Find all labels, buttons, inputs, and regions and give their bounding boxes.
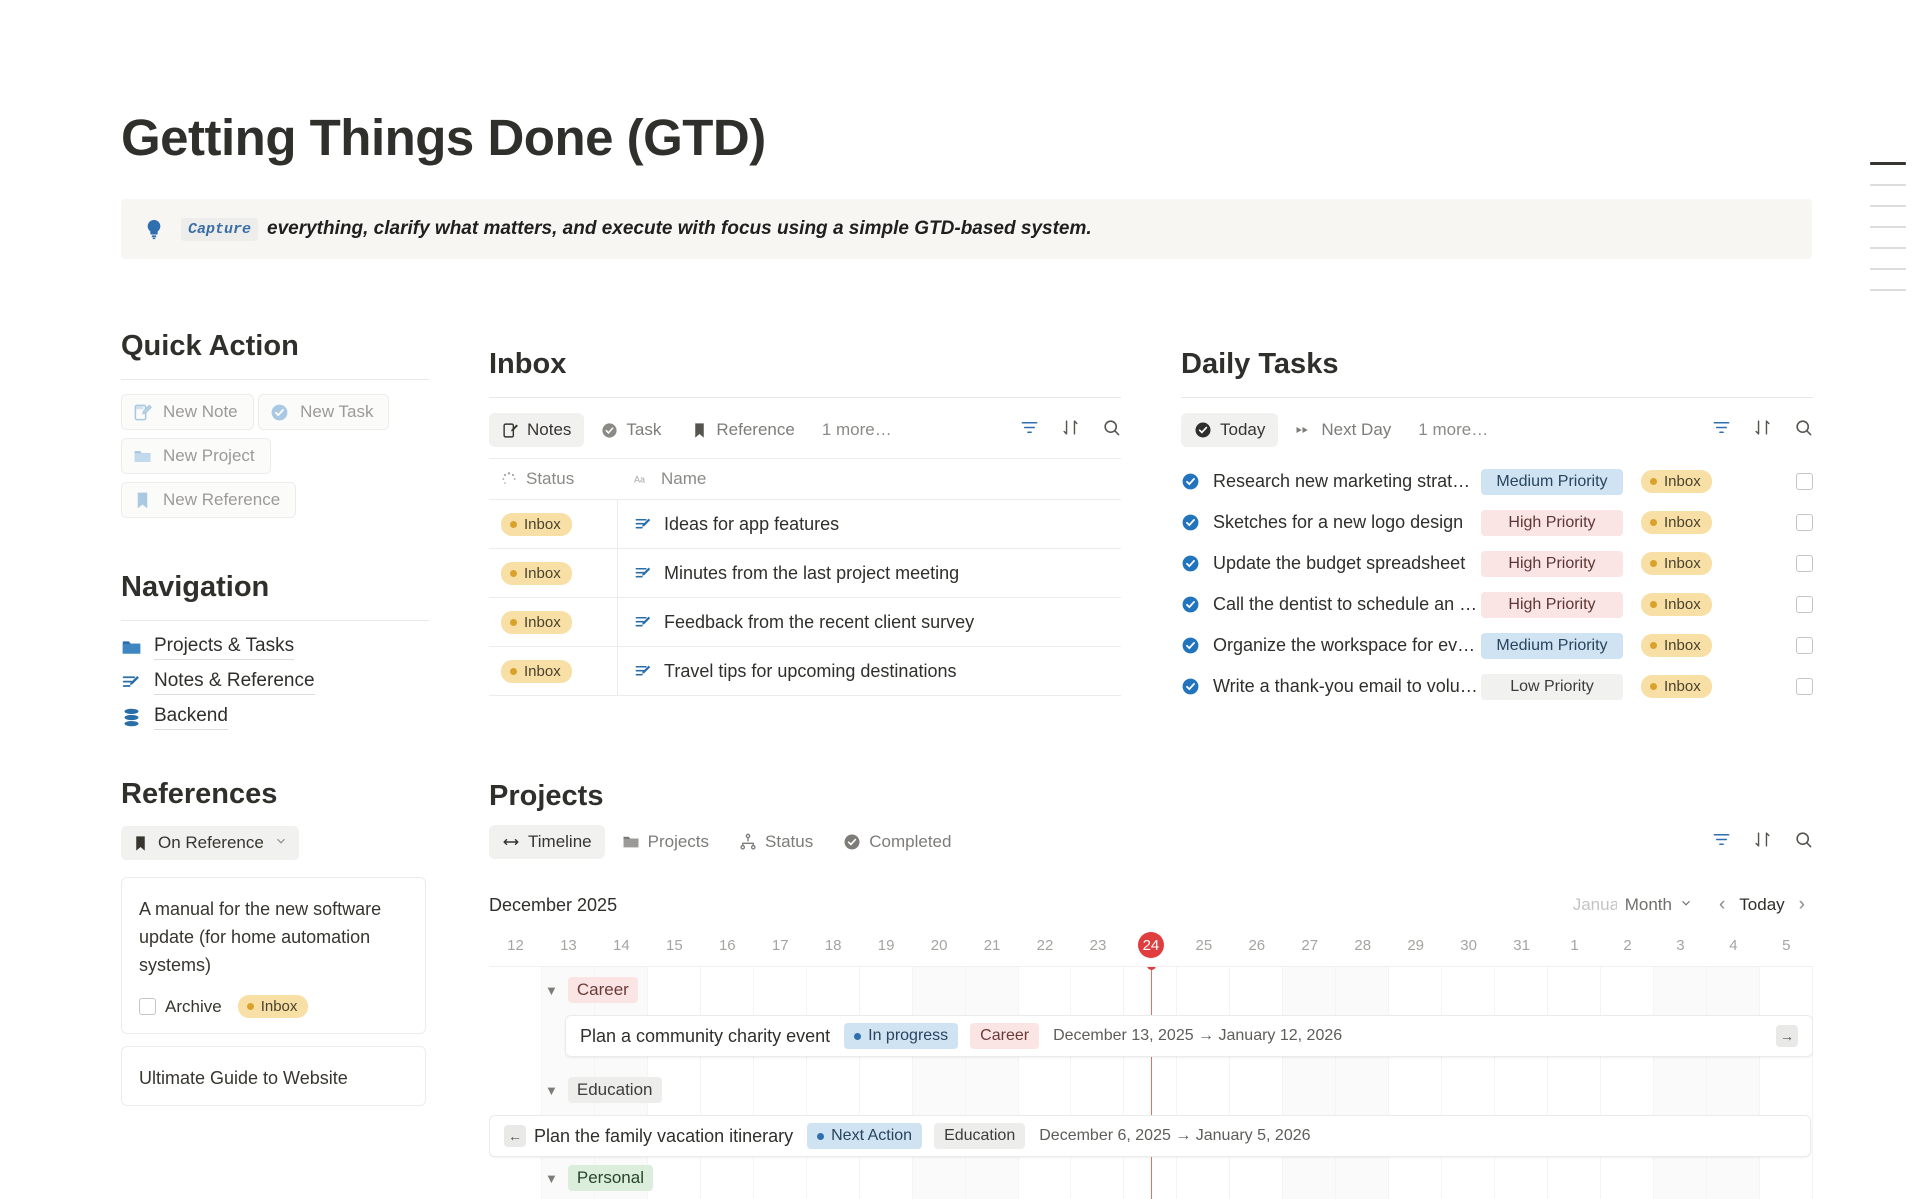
- timeline-day[interactable]: 15: [648, 930, 701, 960]
- priority-badge: High Priority: [1481, 510, 1623, 536]
- table-row[interactable]: Inbox Travel tips for upcoming destinati…: [489, 647, 1121, 696]
- timeline-bar-tag: Education: [934, 1123, 1025, 1149]
- status-badge: Inbox: [1641, 675, 1712, 698]
- reference-card-title: Ultimate Guide to Website: [139, 1064, 408, 1092]
- timeline-column: [1336, 967, 1389, 1199]
- inbox-more-tabs[interactable]: 1 more…: [812, 413, 902, 447]
- timeline-column: [1495, 967, 1548, 1199]
- column-header-label: Status: [526, 469, 574, 489]
- timeline-day[interactable]: 16: [701, 930, 754, 960]
- note-edit-icon: [634, 564, 653, 583]
- list-item[interactable]: Write a thank-you email to volunte… Low …: [1181, 666, 1813, 707]
- inbox-heading: Inbox: [489, 348, 1121, 381]
- status-dot-icon: [510, 570, 517, 577]
- new-task-button[interactable]: New Task: [258, 394, 389, 430]
- inbox-table: Status Aa Name Inbox: [489, 458, 1121, 696]
- status-badge-label: Inbox: [1664, 514, 1701, 531]
- timeline-day[interactable]: 27: [1283, 930, 1336, 960]
- inbox-tools: [1020, 418, 1121, 442]
- timeline-day[interactable]: 25: [1177, 930, 1230, 960]
- hierarchy-icon: [739, 833, 757, 851]
- timeline-column: [1548, 967, 1601, 1199]
- task-status: Inbox: [1641, 593, 1741, 616]
- triangle-down-icon[interactable]: ▼: [545, 983, 558, 998]
- timeline-day-today[interactable]: 24: [1124, 930, 1177, 960]
- timeline-day[interactable]: 19: [860, 930, 913, 960]
- tab-label: Status: [765, 832, 813, 852]
- outline-marker[interactable]: [1870, 289, 1906, 291]
- tab-projects[interactable]: Projects: [609, 825, 722, 859]
- column-header-label: Name: [661, 469, 706, 489]
- inbox-tabbar: Notes Task Reference 1 more…: [489, 413, 1121, 447]
- daily-tasks-section: Daily Tasks Today Next Day 1 more…: [1181, 348, 1813, 707]
- timeline-next-button[interactable]: ›: [1791, 894, 1813, 916]
- row-status-cell: Inbox: [489, 500, 618, 548]
- list-item[interactable]: Research new marketing strat… Medium Pri…: [1181, 461, 1813, 502]
- tab-label: Notes: [527, 420, 571, 440]
- status-badge: Inbox: [1641, 593, 1712, 616]
- timeline-bar-education[interactable]: ← Plan the family vacation itinerary Nex…: [489, 1115, 1811, 1157]
- timeline-column: [1230, 967, 1283, 1199]
- task-name: Organize the workspace for ev…: [1213, 635, 1481, 656]
- timeline-icon: [502, 833, 520, 851]
- on-reference-filter[interactable]: On Reference: [121, 826, 299, 860]
- timeline-group-personal[interactable]: ▼ Personal: [545, 1165, 653, 1191]
- row-status-cell: Inbox: [489, 647, 618, 695]
- timeline-bar-status-label: Next Action: [831, 1127, 912, 1145]
- new-note-label: New Note: [163, 402, 238, 422]
- timeline-day[interactable]: 2: [1601, 930, 1654, 960]
- task-status: Inbox: [1641, 675, 1741, 698]
- task-checkbox[interactable]: [1796, 555, 1813, 572]
- folder-icon: [121, 637, 143, 658]
- status-dot-icon: [1650, 560, 1657, 567]
- timeline-day[interactable]: 4: [1707, 930, 1760, 960]
- status-dot-icon: [510, 668, 517, 675]
- timeline-column: [1654, 967, 1707, 1199]
- row-status-cell: Inbox: [489, 549, 618, 597]
- timeline-bar-title: Plan a community charity event: [580, 1026, 830, 1047]
- outline-marker[interactable]: [1870, 247, 1906, 249]
- column-header-name[interactable]: Aa Name: [618, 469, 706, 489]
- tab-label: Timeline: [528, 832, 592, 852]
- status-dot-icon: [1650, 519, 1657, 526]
- tab-notes[interactable]: Notes: [489, 413, 584, 447]
- timeline-bar-dates: December 13, 2025 → January 12, 2026: [1053, 1027, 1342, 1045]
- timeline-bar-status: In progress: [844, 1023, 958, 1049]
- inbox-table-header: Status Aa Name: [489, 459, 1121, 500]
- timeline-group-education[interactable]: ▼ Education: [545, 1077, 662, 1103]
- status-badge-label: Inbox: [524, 516, 561, 533]
- timeline-column: [1177, 967, 1230, 1199]
- timeline-day[interactable]: 5: [1760, 930, 1813, 960]
- priority-badge: Medium Priority: [1481, 469, 1623, 495]
- timeline-today-number: 24: [1138, 932, 1164, 958]
- projects-tabbar: Timeline Projects Status Completed: [489, 825, 1813, 859]
- row-name-cell: Minutes from the last project meeting: [618, 563, 959, 584]
- row-name-cell: Ideas for app features: [618, 514, 839, 535]
- reference-card[interactable]: Ultimate Guide to Website: [121, 1046, 426, 1106]
- timeline-group-label: Career: [568, 977, 638, 1003]
- outline-marker[interactable]: [1870, 268, 1906, 270]
- task-name: Research new marketing strat…: [1213, 471, 1481, 492]
- sidebar-item-backend[interactable]: Backend: [121, 705, 429, 730]
- check-circle-icon[interactable]: [1181, 554, 1200, 573]
- outline-marker[interactable]: [1870, 226, 1906, 228]
- reference-card-title: A manual for the new software update (fo…: [139, 895, 408, 979]
- status-badge: Inbox: [501, 513, 572, 536]
- timeline-day[interactable]: 22: [1019, 930, 1072, 960]
- table-row[interactable]: Inbox Minutes from the last project meet…: [489, 549, 1121, 598]
- timeline-day[interactable]: 17: [754, 930, 807, 960]
- tab-label: Reference: [716, 420, 794, 440]
- sidebar-item-projects-tasks[interactable]: Projects & Tasks: [121, 635, 429, 660]
- outline-marker[interactable]: [1870, 184, 1906, 186]
- check-circle-icon[interactable]: [1181, 595, 1200, 614]
- timeline-column: [1019, 967, 1072, 1199]
- arrow-right-icon: [1295, 421, 1313, 439]
- callout-text: everything, clarify what matters, and ex…: [267, 218, 1092, 240]
- status-dot-icon: [1650, 683, 1657, 690]
- bookmark-icon: [691, 422, 708, 439]
- archive-checkbox[interactable]: [139, 998, 156, 1015]
- timeline-bar-dates: December 6, 2025 → January 5, 2026: [1039, 1127, 1310, 1145]
- status-badge: Inbox: [1641, 552, 1712, 575]
- new-reference-button[interactable]: New Reference: [121, 482, 296, 518]
- navigation-heading: Navigation: [121, 571, 429, 604]
- status-badge: Inbox: [501, 660, 572, 683]
- priority-badge: High Priority: [1481, 592, 1623, 618]
- page-title: Getting Things Done (GTD): [121, 108, 766, 167]
- status-dot-icon: [1650, 601, 1657, 608]
- note-edit-icon: [634, 515, 653, 534]
- timeline-day[interactable]: 28: [1336, 930, 1389, 960]
- row-name-cell: Feedback from the recent client survey: [618, 612, 974, 633]
- status-badge: Inbox: [501, 562, 572, 585]
- status-badge-label: Inbox: [524, 663, 561, 680]
- task-checkbox[interactable]: [1796, 473, 1813, 490]
- timeline-day[interactable]: 14: [595, 930, 648, 960]
- left-column: Quick Action New Note New Task: [121, 330, 429, 1106]
- tab-label: Task: [626, 420, 661, 440]
- priority-badge: Medium Priority: [1481, 633, 1623, 659]
- scroll-to-start-icon[interactable]: ←: [504, 1125, 526, 1147]
- status-dot-icon: [1650, 478, 1657, 485]
- timeline-controls: January Month ‹ Today ›: [1573, 894, 1813, 916]
- tab-today[interactable]: Today: [1181, 413, 1278, 447]
- timeline-day[interactable]: 18: [807, 930, 860, 960]
- timeline-today-button[interactable]: Today: [1733, 895, 1790, 915]
- timeline-day[interactable]: 31: [1495, 930, 1548, 960]
- bookmark-icon: [132, 835, 149, 852]
- status-dot-icon: [510, 619, 517, 626]
- timeline-day[interactable]: 23: [1071, 930, 1124, 960]
- filter-icon[interactable]: [1712, 830, 1731, 854]
- task-status: Inbox: [1641, 552, 1741, 575]
- task-name: Write a thank-you email to volunte…: [1213, 676, 1481, 697]
- status-badge-label: Inbox: [1664, 637, 1701, 654]
- chevron-down-icon: [274, 833, 288, 853]
- row-status-cell: Inbox: [489, 598, 618, 646]
- check-circle-icon[interactable]: [1181, 677, 1200, 696]
- status-dot-icon: [854, 1033, 861, 1040]
- status-badge: Inbox: [238, 995, 309, 1018]
- status-badge-label: Inbox: [1664, 596, 1701, 613]
- capture-callout: Capture everything, clarify what matters…: [121, 199, 1812, 259]
- outline-marker[interactable]: [1870, 205, 1906, 207]
- task-status: Inbox: [1641, 511, 1741, 534]
- timeline-month-label: December 2025: [489, 895, 617, 916]
- quick-action-list: New Note New Task New Project New Refere…: [121, 394, 429, 526]
- check-circle-icon: [601, 422, 618, 439]
- sidebar-item-label: Notes & Reference: [154, 670, 315, 695]
- task-name: Update the budget spreadsheet: [1213, 553, 1481, 574]
- check-circle-icon[interactable]: [1181, 472, 1200, 491]
- timeline-day[interactable]: 26: [1230, 930, 1283, 960]
- tab-label: Today: [1220, 420, 1265, 440]
- search-icon[interactable]: [1794, 830, 1813, 854]
- tab-task[interactable]: Task: [588, 413, 674, 447]
- column-header-status[interactable]: Status: [489, 469, 618, 489]
- timeline-column: [1283, 967, 1336, 1199]
- status-badge-label: Inbox: [524, 565, 561, 582]
- search-icon[interactable]: [1102, 418, 1121, 442]
- task-status: Inbox: [1641, 634, 1741, 657]
- status-dot-icon: [1650, 642, 1657, 649]
- timeline-day[interactable]: 21: [966, 930, 1019, 960]
- timeline-day[interactable]: 13: [542, 930, 595, 960]
- timeline-column: [966, 967, 1019, 1199]
- loading-icon: [501, 471, 517, 487]
- gtd-page: Getting Things Done (GTD) Capture everyt…: [0, 0, 1920, 1199]
- task-checkbox[interactable]: [1796, 637, 1813, 654]
- status-badge-label: Inbox: [1664, 678, 1701, 695]
- status-badge-label: Inbox: [524, 614, 561, 631]
- tab-timeline[interactable]: Timeline: [489, 825, 605, 859]
- timeline-bar-title: Plan the family vacation itinerary: [534, 1126, 793, 1147]
- status-badge-label: Inbox: [1664, 555, 1701, 572]
- quick-action-heading: Quick Action: [121, 330, 429, 363]
- new-reference-label: New Reference: [163, 490, 280, 510]
- search-icon[interactable]: [1794, 418, 1813, 442]
- note-edit-icon: [634, 662, 653, 681]
- callout-code: Capture: [181, 218, 258, 241]
- timeline-column: [1071, 967, 1124, 1199]
- divider: [121, 620, 429, 621]
- divider: [121, 379, 429, 380]
- divider: [489, 397, 1121, 398]
- row-name-label: Ideas for app features: [664, 514, 839, 535]
- inbox-section: Inbox Notes Task Re: [489, 348, 1121, 696]
- tab-label: Completed: [869, 832, 951, 852]
- filter-icon[interactable]: [1020, 418, 1039, 442]
- database-icon: [121, 707, 143, 728]
- daily-tasks-tabbar: Today Next Day 1 more…: [1181, 413, 1813, 447]
- table-row[interactable]: Inbox Ideas for app features: [489, 500, 1121, 549]
- check-circle-icon[interactable]: [1181, 513, 1200, 532]
- priority-badge: High Priority: [1481, 551, 1623, 577]
- list-item[interactable]: Organize the workspace for ev… Medium Pr…: [1181, 625, 1813, 666]
- check-circle-icon[interactable]: [1181, 636, 1200, 655]
- status-badge-label: Inbox: [1664, 473, 1701, 490]
- check-circle-icon: [270, 403, 289, 422]
- navigation-list: Projects & Tasks Notes & Reference Backe…: [121, 635, 429, 730]
- tab-status[interactable]: Status: [726, 825, 826, 859]
- status-badge: Inbox: [1641, 511, 1712, 534]
- status-dot-icon: [817, 1133, 824, 1140]
- folder-icon: [622, 833, 640, 851]
- timeline-grid: ▼ Career Plan a community charity event …: [489, 966, 1813, 1199]
- task-checkbox[interactable]: [1796, 678, 1813, 695]
- sort-icon[interactable]: [1753, 418, 1772, 442]
- daily-tasks-heading: Daily Tasks: [1181, 348, 1813, 381]
- status-badge-label: Inbox: [261, 998, 298, 1015]
- timeline-bar-career[interactable]: Plan a community charity event In progre…: [565, 1015, 1813, 1057]
- task-name: Call the dentist to schedule an ap…: [1213, 594, 1481, 615]
- timeline-column: [1760, 967, 1813, 1199]
- timeline-group-career[interactable]: ▼ Career: [545, 977, 638, 1003]
- timeline-day[interactable]: 30: [1442, 930, 1495, 960]
- timeline-column: [1389, 967, 1442, 1199]
- tab-label: Next Day: [1321, 420, 1391, 440]
- note-edit-icon: [121, 672, 143, 693]
- list-item[interactable]: Sketches for a new logo design High Prio…: [1181, 502, 1813, 543]
- status-dot-icon: [247, 1003, 254, 1010]
- timeline-column: [489, 967, 542, 1199]
- timeline-column: [1707, 967, 1760, 1199]
- status-badge: Inbox: [1641, 470, 1712, 493]
- check-circle-icon: [1194, 421, 1212, 439]
- timeline-bar-status: Next Action: [807, 1123, 922, 1149]
- timeline-range-select[interactable]: Month: [1625, 895, 1693, 915]
- daily-tasks-list: Research new marketing strat… Medium Pri…: [1181, 461, 1813, 707]
- sidebar-item-label: Backend: [154, 705, 228, 730]
- lightbulb-icon: [143, 218, 165, 240]
- note-edit-icon: [502, 422, 519, 439]
- new-task-label: New Task: [300, 402, 373, 422]
- task-checkbox[interactable]: [1796, 514, 1813, 531]
- status-badge: Inbox: [1641, 634, 1712, 657]
- on-reference-label: On Reference: [158, 833, 264, 853]
- status-badge: Inbox: [501, 611, 572, 634]
- sidebar-item-notes-reference[interactable]: Notes & Reference: [121, 670, 429, 695]
- references-heading: References: [121, 778, 429, 811]
- filter-icon[interactable]: [1712, 418, 1731, 442]
- chevron-down-icon: [1679, 895, 1693, 915]
- daily-tasks-more-tabs[interactable]: 1 more…: [1408, 413, 1498, 447]
- timeline-day[interactable]: 1: [1548, 930, 1601, 960]
- archive-label: Archive: [165, 997, 222, 1017]
- daily-tasks-tools: [1712, 418, 1813, 442]
- timeline-range-label: Month: [1625, 895, 1672, 915]
- note-edit-icon: [634, 613, 653, 632]
- task-status: Inbox: [1641, 470, 1741, 493]
- new-project-button[interactable]: New Project: [121, 438, 271, 474]
- new-note-button[interactable]: New Note: [121, 394, 254, 430]
- timeline-column: [1601, 967, 1654, 1199]
- timeline-day[interactable]: 29: [1389, 930, 1442, 960]
- timeline-prev-button[interactable]: ‹: [1711, 894, 1733, 916]
- list-item[interactable]: Update the budget spreadsheet High Prior…: [1181, 543, 1813, 584]
- tab-completed[interactable]: Completed: [830, 825, 964, 859]
- timeline-next-month-label: January: [1573, 895, 1617, 915]
- new-project-label: New Project: [163, 446, 255, 466]
- svg-text:Aa: Aa: [634, 474, 645, 484]
- row-name-label: Travel tips for upcoming destinations: [664, 661, 956, 682]
- triangle-down-icon[interactable]: ▼: [545, 1171, 558, 1186]
- list-item[interactable]: Call the dentist to schedule an ap… High…: [1181, 584, 1813, 625]
- timeline-group-label: Education: [568, 1077, 662, 1103]
- divider: [1181, 397, 1813, 398]
- timeline-bar-status-label: In progress: [868, 1027, 948, 1045]
- timeline-day[interactable]: 12: [489, 930, 542, 960]
- reference-card[interactable]: A manual for the new software update (fo…: [121, 877, 426, 1034]
- tab-label: Projects: [648, 832, 709, 852]
- projects-tools: [1712, 830, 1813, 854]
- projects-heading: Projects: [489, 780, 1813, 813]
- row-name-label: Feedback from the recent client survey: [664, 612, 974, 633]
- timeline-day[interactable]: 3: [1654, 930, 1707, 960]
- table-row[interactable]: Inbox Feedback from the recent client su…: [489, 598, 1121, 647]
- sidebar-item-label: Projects & Tasks: [154, 635, 294, 660]
- timeline-column: [860, 967, 913, 1199]
- bookmark-icon: [133, 491, 152, 510]
- status-dot-icon: [510, 521, 517, 528]
- outline-marker[interactable]: [1870, 162, 1906, 165]
- row-name-cell: Travel tips for upcoming destinations: [618, 661, 956, 682]
- timeline-column: [754, 967, 807, 1199]
- timeline-column: [913, 967, 966, 1199]
- sort-icon[interactable]: [1753, 830, 1772, 854]
- task-checkbox[interactable]: [1796, 596, 1813, 613]
- reference-card-meta: Archive Inbox: [139, 995, 408, 1018]
- note-edit-icon: [133, 403, 152, 422]
- timeline-column: [1442, 967, 1495, 1199]
- scroll-to-end-icon[interactable]: →: [1776, 1025, 1798, 1047]
- page-outline-indicator[interactable]: [1870, 162, 1906, 310]
- timeline-group-label: Personal: [568, 1165, 653, 1191]
- timeline-month-bar: December 2025 January Month ‹ Today ›: [489, 892, 1813, 918]
- timeline-today-marker: [1151, 967, 1152, 1199]
- folder-icon: [133, 447, 152, 466]
- task-name: Sketches for a new logo design: [1213, 512, 1481, 533]
- timeline-bar-tag: Career: [970, 1023, 1039, 1049]
- check-circle-icon: [843, 833, 861, 851]
- timeline-column: [807, 967, 860, 1199]
- tab-reference[interactable]: Reference: [678, 413, 807, 447]
- timeline-day-ruler: 12 13 14 15 16 17 18 19 20 21 22 23 24 2…: [489, 930, 1813, 960]
- timeline-day[interactable]: 20: [913, 930, 966, 960]
- triangle-down-icon[interactable]: ▼: [545, 1083, 558, 1098]
- tab-next-day[interactable]: Next Day: [1282, 413, 1404, 447]
- timeline-column: [701, 967, 754, 1199]
- text-icon: Aa: [634, 472, 652, 486]
- priority-badge: Low Priority: [1481, 674, 1623, 700]
- sort-icon[interactable]: [1061, 418, 1080, 442]
- row-name-label: Minutes from the last project meeting: [664, 563, 959, 584]
- projects-section: Projects Timeline Projects Status: [489, 780, 1813, 1199]
